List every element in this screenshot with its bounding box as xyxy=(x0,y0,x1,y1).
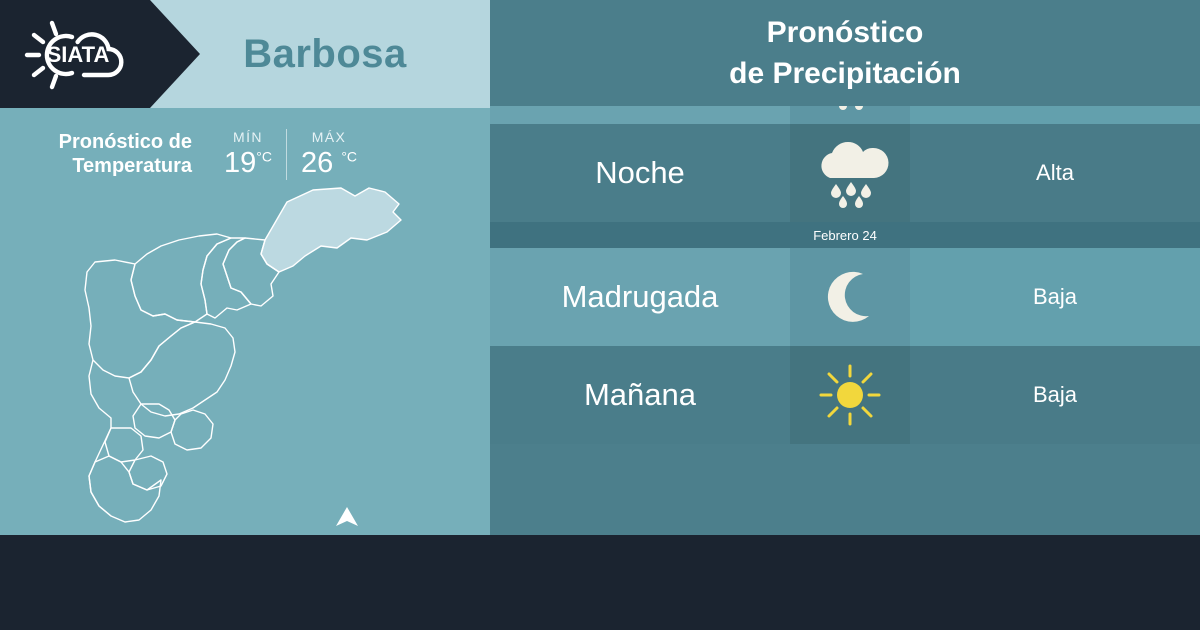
footer: @siatamedellin www.siata.gov.co Con el a… xyxy=(0,535,1200,630)
north-arrow-icon xyxy=(334,506,360,528)
temperature-values: MÍN 19°C MÁX 26 °C xyxy=(210,129,371,180)
forecast-probability-cell: Baja xyxy=(910,346,1200,444)
temperature-max-value-wrap: 26 °C xyxy=(301,147,357,180)
forecast-period-label: Madrugada xyxy=(562,279,719,315)
map-region-barbosa xyxy=(261,188,401,272)
moon-icon xyxy=(819,266,881,328)
temperature-min-unit: °C xyxy=(256,148,272,164)
map-region-san-jeronimo xyxy=(85,260,195,378)
map-region-envigado xyxy=(171,410,213,450)
forecast-probability-cell: Alta xyxy=(910,124,1200,222)
aburra-valley-map: N xyxy=(55,180,455,535)
forecast-icon-cell xyxy=(790,248,910,346)
temperature-title: Pronóstico de Temperatura xyxy=(0,130,210,178)
forecast-period-label: Mañana xyxy=(584,377,696,413)
sun-icon xyxy=(817,362,883,428)
siata-logo-text: SIATA xyxy=(47,42,110,67)
map-region-medellin xyxy=(129,322,235,416)
map-svg xyxy=(55,180,455,535)
forecast-period-cell: Mañana xyxy=(490,346,790,444)
city-title: Barbosa xyxy=(160,0,490,108)
temperature-title-line1: Pronóstico de xyxy=(0,130,192,154)
forecast-period-label: Noche xyxy=(595,155,685,191)
temperature-max-value: 26 xyxy=(301,147,333,179)
forecast-period-cell: Noche xyxy=(490,124,790,222)
temperature-min-label: MÍN xyxy=(224,129,272,145)
rain-cloud-icon xyxy=(811,138,889,208)
map-region-south-boundary xyxy=(89,360,111,516)
forecast-row-noche: Noche Alta xyxy=(490,124,1200,222)
map-region-copacabana xyxy=(201,238,251,318)
forecast-icon-cell xyxy=(790,346,910,444)
forecast-probability-cell: Baja xyxy=(910,248,1200,346)
temperature-max-unit: °C xyxy=(341,148,357,164)
forecast-title-line2: de Precipitación xyxy=(729,53,961,94)
temperature-min-value-wrap: 19°C xyxy=(224,147,272,180)
left-header: SIATA Barbosa xyxy=(0,0,490,108)
sun-cloud-icon: SIATA xyxy=(14,17,144,91)
forecast-probability-label: Baja xyxy=(1033,284,1077,310)
map-region-bello xyxy=(131,234,231,322)
infographic-root: SIATA Barbosa Pronóstico de Temperatura … xyxy=(0,0,1200,630)
temperature-min-value: 19 xyxy=(224,147,256,179)
temperature-max-label: MÁX xyxy=(301,129,357,145)
temperature-max: MÁX 26 °C xyxy=(287,129,371,180)
forecast-icon-cell xyxy=(790,124,910,222)
left-panel: SIATA Barbosa Pronóstico de Temperatura … xyxy=(0,0,490,535)
forecast-row-manana: Mañana Baja xyxy=(490,346,1200,444)
forecast-panel: Pronóstico de Precipitación Febrero 23 T… xyxy=(490,0,1200,535)
forecast-row-madrugada: Madrugada Baja xyxy=(490,248,1200,346)
temperature-min: MÍN 19°C xyxy=(210,129,287,180)
forecast-period-cell: Madrugada xyxy=(490,248,790,346)
forecast-title-line1: Pronóstico xyxy=(767,12,924,53)
map-region-itagui xyxy=(133,404,175,438)
forecast-header: Pronóstico de Precipitación xyxy=(490,0,1200,106)
forecast-probability-label: Alta xyxy=(1036,160,1074,186)
temperature-title-line2: Temperatura xyxy=(0,154,192,178)
date-bar-feb24: Febrero 24 xyxy=(490,222,1200,248)
forecast-probability-label: Baja xyxy=(1033,382,1077,408)
